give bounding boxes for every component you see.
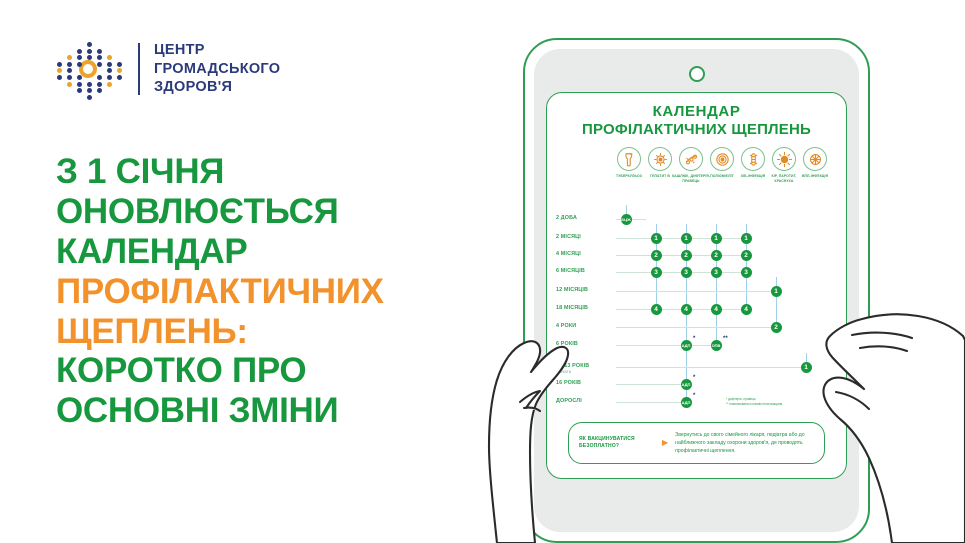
bacteria-icon (679, 147, 703, 171)
logo-wordmark: ЦЕНТР ГРОМАДСЬКОГО ЗДОРОВ'Я (154, 41, 280, 97)
virus-hexagon-icon (648, 147, 672, 171)
age-label-sub: дівчата (556, 369, 614, 374)
dose-marker: 2 (651, 250, 662, 261)
age-label-text: 6 РОКІВ (556, 341, 578, 347)
age-row-line (616, 384, 686, 385)
right-triangle-icon: ▶ (662, 439, 668, 447)
age-label-text: 2 ДОБА (556, 215, 577, 221)
dose-marker: ОПВ (711, 340, 722, 351)
cta-answer: Звернутись до свого сімейного лікаря, пе… (675, 431, 814, 455)
dose-asterisk: * (693, 336, 695, 342)
logo-dot (87, 42, 92, 47)
logo-line-2: ГРОМАДСЬКОГО (154, 60, 280, 79)
logo-dot (77, 49, 82, 54)
logo-line-3: ЗДОРОВ'Я (154, 78, 280, 97)
dose-marker: 3 (711, 267, 722, 278)
age-row-label: 18 МІСЯЦІВ (556, 305, 614, 311)
dose-asterisk: * (693, 393, 695, 399)
logo-dot (57, 75, 62, 80)
dose-marker: 3 (741, 267, 752, 278)
dose-marker: 4 (741, 304, 752, 315)
age-row-label: 4 РОКИ (556, 323, 614, 329)
dose-marker: АДП (681, 397, 692, 408)
age-label-text: 6 МІСЯЦІВ (556, 268, 585, 274)
headline-line: ПРОФІЛАКТИЧНИХ (56, 272, 476, 312)
organization-logo: ЦЕНТР ГРОМАДСЬКОГО ЗДОРОВ'Я (52, 38, 280, 100)
dose-marker: АДП (681, 379, 692, 390)
vaccine-label: ВПЛ-ІНФЕКЦІЯ (795, 174, 835, 178)
grid-footnotes: * дифтерія, правець** інактивована поліо… (726, 397, 782, 406)
age-row-label: 12-13 РОКІВдівчата (556, 363, 614, 374)
logo-dot (87, 82, 92, 87)
headline-line: З 1 СІЧНЯ (56, 152, 476, 192)
logo-dot (107, 68, 112, 73)
age-label-text: 4 РОКИ (556, 323, 576, 329)
age-row-line (616, 327, 776, 328)
age-row-line (616, 367, 806, 368)
logo-dot (67, 68, 72, 73)
vaccine-column-hpv: ВПЛ-ІНФЕКЦІЯ (795, 147, 835, 178)
bcg-vial-icon (617, 147, 641, 171)
dose-marker: 1 (741, 233, 752, 244)
age-row-line (616, 345, 716, 346)
logo-dot (107, 82, 112, 87)
dose-asterisk: ** (723, 336, 728, 342)
footnote: ** інактивована поліомієлітна вакцина (726, 402, 782, 407)
dose-asterisk: * (693, 375, 695, 381)
age-row-label: 2 МІСЯЦІ (556, 234, 614, 240)
logo-dot (67, 75, 72, 80)
logo-dot (87, 49, 92, 54)
logo-dot (77, 82, 82, 87)
dose-marker: 4 (711, 304, 722, 315)
calendar-title-line-2: ПРОФІЛАКТИЧНИХ ЩЕПЛЕНЬ (556, 121, 837, 139)
logo-dot (77, 75, 82, 80)
logo-dot (67, 82, 72, 87)
age-row-label: 12 МІСЯЦІВ (556, 287, 614, 293)
dose-marker: 2 (711, 250, 722, 261)
logo-dot (87, 88, 92, 93)
dose-marker: 1 (771, 286, 782, 297)
headline-line: КАЛЕНДАР (56, 232, 476, 272)
logo-dot (57, 62, 62, 67)
logo-dot (97, 49, 102, 54)
dose-marker: 1 (801, 362, 812, 373)
calendar-title: КАЛЕНДАР ПРОФІЛАКТИЧНИХ ЩЕПЛЕНЬ (556, 103, 837, 138)
hpv-virus-icon (803, 147, 827, 171)
dose-marker: 2 (771, 322, 782, 333)
age-label-text: 2 МІСЯЦІ (556, 234, 581, 240)
headline-line: ОСНОВНІ ЗМІНИ (56, 391, 476, 431)
dose-marker: 4 (651, 304, 662, 315)
vaccine-connector-line (776, 277, 777, 327)
age-row-label: ДОРОСЛІ (556, 398, 614, 404)
logo-dot (67, 62, 72, 67)
dose-marker: 1 (651, 233, 662, 244)
cta-panel: ЯК ВАКЦИНУВАТИСЯ БЕЗОПЛАТНО? ▶ Звернутис… (568, 422, 825, 464)
age-row-label: 2 ДОБА (556, 215, 614, 221)
age-label-text: 12 МІСЯЦІВ (556, 287, 588, 293)
headline: З 1 СІЧНЯОНОВЛЮЄТЬСЯКАЛЕНДАРПРОФІЛАКТИЧН… (56, 152, 476, 431)
dose-marker: АДП (681, 340, 692, 351)
age-row-label: 4 МІСЯЦІ (556, 251, 614, 257)
logo-dot (77, 62, 82, 67)
dose-marker: 1 (711, 233, 722, 244)
logo-dot (57, 68, 62, 73)
logo-dot (77, 55, 82, 60)
logo-dot (117, 68, 122, 73)
logo-dot (107, 75, 112, 80)
age-label-text: ДОРОСЛІ (556, 398, 582, 404)
logo-divider (138, 43, 140, 95)
headline-line: ЩЕПЛЕНЬ: (56, 312, 476, 352)
logo-dot (117, 62, 122, 67)
logo-dot (107, 62, 112, 67)
logo-dot (67, 55, 72, 60)
logo-dot (97, 82, 102, 87)
logo-dot (107, 55, 112, 60)
vaccine-icon-header-row: ТУБЕРКУЛЬОЗГЕПАТИТ ВКАШЛЮК, ДИФТЕРІЯ, ПР… (556, 147, 837, 205)
age-label-text: 4 МІСЯЦІ (556, 251, 581, 257)
logo-line-1: ЦЕНТР (154, 41, 280, 60)
age-row-label: 6 МІСЯЦІВ (556, 268, 614, 274)
hib-bacillus-icon (741, 147, 765, 171)
age-row-label: 6 РОКІВ (556, 341, 614, 347)
age-label-text: 18 МІСЯЦІВ (556, 305, 588, 311)
headline-line: КОРОТКО ПРО (56, 351, 476, 391)
dose-marker: БЦЖ (621, 214, 632, 225)
vaccination-schedule-grid: * дифтерія, правець** інактивована поліо… (556, 207, 837, 415)
headline-line: ОНОВЛЮЄТЬСЯ (56, 192, 476, 232)
age-row-label: 16 РОКІВ (556, 380, 614, 386)
camera-icon (689, 66, 705, 82)
dose-marker: 3 (681, 267, 692, 278)
polio-target-icon (710, 147, 734, 171)
logo-dot (117, 75, 122, 80)
logo-dot (97, 62, 102, 67)
dose-marker: 4 (681, 304, 692, 315)
logo-dot (97, 55, 102, 60)
measles-sunburst-icon (772, 147, 796, 171)
age-label-text: 16 РОКІВ (556, 380, 581, 386)
dose-marker: 3 (651, 267, 662, 278)
dose-marker: 2 (681, 250, 692, 261)
logo-dot (97, 75, 102, 80)
logo-dot (87, 95, 92, 100)
dose-marker: 2 (741, 250, 752, 261)
logo-dot (87, 55, 92, 60)
logo-dot (77, 88, 82, 93)
age-row-line (616, 291, 776, 292)
tablet-device: КАЛЕНДАР ПРОФІЛАКТИЧНИХ ЩЕПЛЕНЬ ТУБЕРКУЛ… (523, 38, 870, 543)
cta-question: ЯК ВАКЦИНУВАТИСЯ БЕЗОПЛАТНО? (579, 436, 655, 450)
calendar-title-line-1: КАЛЕНДАР (556, 103, 837, 121)
dose-marker: 1 (681, 233, 692, 244)
cphc-dot-diamond-logo (52, 38, 124, 100)
logo-dot (97, 88, 102, 93)
age-row-line (616, 402, 686, 403)
tablet-screen: КАЛЕНДАР ПРОФІЛАКТИЧНИХ ЩЕПЛЕНЬ ТУБЕРКУЛ… (546, 92, 847, 479)
